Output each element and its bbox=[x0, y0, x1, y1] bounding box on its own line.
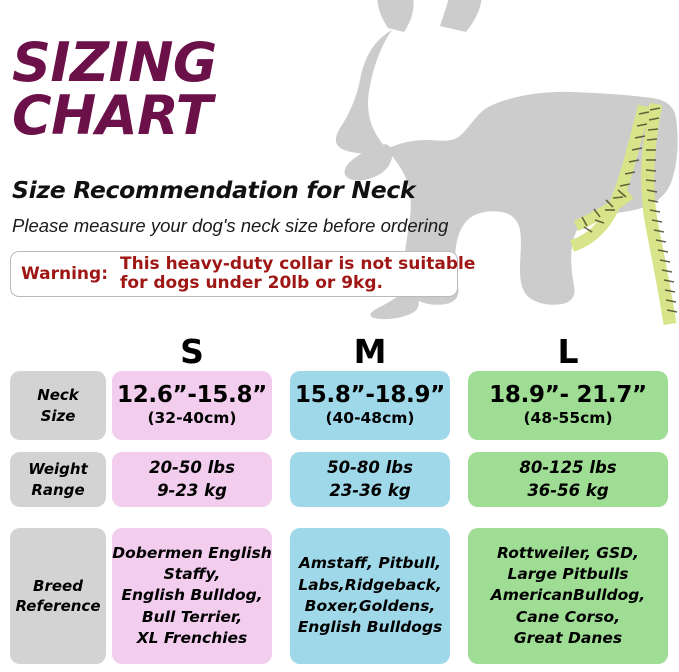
row-label-neck-size: Neck Size bbox=[10, 371, 106, 440]
breed-medium-line-2: Labs,Ridgeback, bbox=[298, 575, 443, 596]
breed-large-line-1: Rottweiler, GSD, bbox=[491, 543, 646, 564]
cell-breed-reference-small: Dobermen English Staffy, English Bulldog… bbox=[112, 528, 272, 664]
tape-band-loop-tail bbox=[576, 194, 630, 226]
cell-breed-reference-large: Rottweiler, GSD, Large Pitbulls American… bbox=[468, 528, 668, 664]
weight-large-kg: 36-56 kg bbox=[519, 480, 616, 502]
neck-size-medium-cm: (40-48cm) bbox=[295, 409, 445, 428]
row-label-breed-reference: Breed Reference bbox=[10, 528, 106, 664]
row-label-weight-range-line1: Weight bbox=[28, 460, 88, 478]
subtitle: Size Recommendation for Neck bbox=[12, 176, 415, 204]
breed-small-line-5: XL Frenchies bbox=[112, 628, 271, 649]
breed-medium-line-1: Amstaff, Pitbull, bbox=[298, 553, 443, 574]
row-label-weight-range-line2: Range bbox=[31, 481, 84, 499]
neck-size-small-cm: (32-40cm) bbox=[117, 409, 267, 428]
breed-large-line-3: AmericanBulldog, bbox=[491, 585, 646, 606]
warning-line-1: This heavy-duty collar is not suitable bbox=[120, 255, 475, 274]
measuring-tape bbox=[572, 104, 677, 324]
weight-large-lbs: 80-125 lbs bbox=[519, 457, 616, 479]
cell-neck-size-small: 12.6”-15.8” (32-40cm) bbox=[112, 371, 272, 440]
size-header-l: L bbox=[468, 332, 668, 371]
sizing-chart-page: SIZING CHART Size Recommendation for Nec… bbox=[0, 0, 679, 672]
cell-neck-size-medium: 15.8”-18.9” (40-48cm) bbox=[290, 371, 450, 440]
cell-neck-size-large: 18.9”- 21.7” (48-55cm) bbox=[468, 371, 668, 440]
row-label-neck-size-line1: Neck bbox=[37, 386, 79, 404]
cell-weight-range-large: 80-125 lbs 36-56 kg bbox=[468, 452, 668, 507]
tape-band-back bbox=[572, 106, 644, 246]
title-line-sizing: SIZING bbox=[12, 36, 452, 89]
cell-weight-range-medium: 50-80 lbs 23-36 kg bbox=[290, 452, 450, 507]
warning-box: Warning: This heavy-duty collar is not s… bbox=[10, 251, 458, 297]
size-header-m: M bbox=[290, 332, 450, 371]
warning-label: Warning: bbox=[21, 264, 120, 284]
breed-large-line-4: Cane Corso, bbox=[491, 607, 646, 628]
tape-band-front bbox=[648, 104, 670, 324]
weight-small-kg: 9-23 kg bbox=[149, 480, 235, 502]
breed-medium-line-3: Boxer,Goldens, bbox=[298, 596, 443, 617]
breed-medium-line-4: English Bulldogs bbox=[298, 617, 443, 638]
breed-large-line-5: Great Danes bbox=[491, 628, 646, 649]
size-header-s: S bbox=[112, 332, 272, 371]
instruction-text: Please measure your dog's neck size befo… bbox=[12, 215, 448, 237]
breed-small-line-1: Dobermen English bbox=[112, 543, 271, 564]
row-label-weight-range: Weight Range bbox=[10, 452, 106, 507]
breed-small-line-3: English Bulldog, bbox=[112, 585, 271, 606]
weight-medium-lbs: 50-80 lbs bbox=[327, 457, 413, 479]
warning-message: This heavy-duty collar is not suitable f… bbox=[120, 255, 475, 293]
row-label-breed-reference-line2: Reference bbox=[16, 597, 101, 615]
warning-line-2: for dogs under 20lb or 9kg. bbox=[120, 274, 475, 293]
neck-size-large-inches: 18.9”- 21.7” bbox=[489, 383, 647, 409]
cell-breed-reference-medium: Amstaff, Pitbull, Labs,Ridgeback, Boxer,… bbox=[290, 528, 450, 664]
cell-weight-range-small: 20-50 lbs 9-23 kg bbox=[112, 452, 272, 507]
neck-size-small-inches: 12.6”-15.8” bbox=[117, 383, 267, 409]
breed-large-line-2: Large Pitbulls bbox=[491, 564, 646, 585]
row-label-neck-size-line2: Size bbox=[41, 407, 76, 425]
neck-size-large-cm: (48-55cm) bbox=[489, 409, 647, 428]
breed-small-line-4: Bull Terrier, bbox=[112, 607, 271, 628]
breed-small-line-2: Staffy, bbox=[112, 564, 271, 585]
weight-medium-kg: 23-36 kg bbox=[327, 480, 413, 502]
row-label-breed-reference-line1: Breed bbox=[33, 577, 83, 595]
weight-small-lbs: 20-50 lbs bbox=[149, 457, 235, 479]
neck-size-medium-inches: 15.8”-18.9” bbox=[295, 383, 445, 409]
title-line-chart: CHART bbox=[12, 89, 452, 142]
page-title: SIZING CHART bbox=[12, 36, 452, 143]
tape-tick-marks bbox=[582, 108, 677, 312]
